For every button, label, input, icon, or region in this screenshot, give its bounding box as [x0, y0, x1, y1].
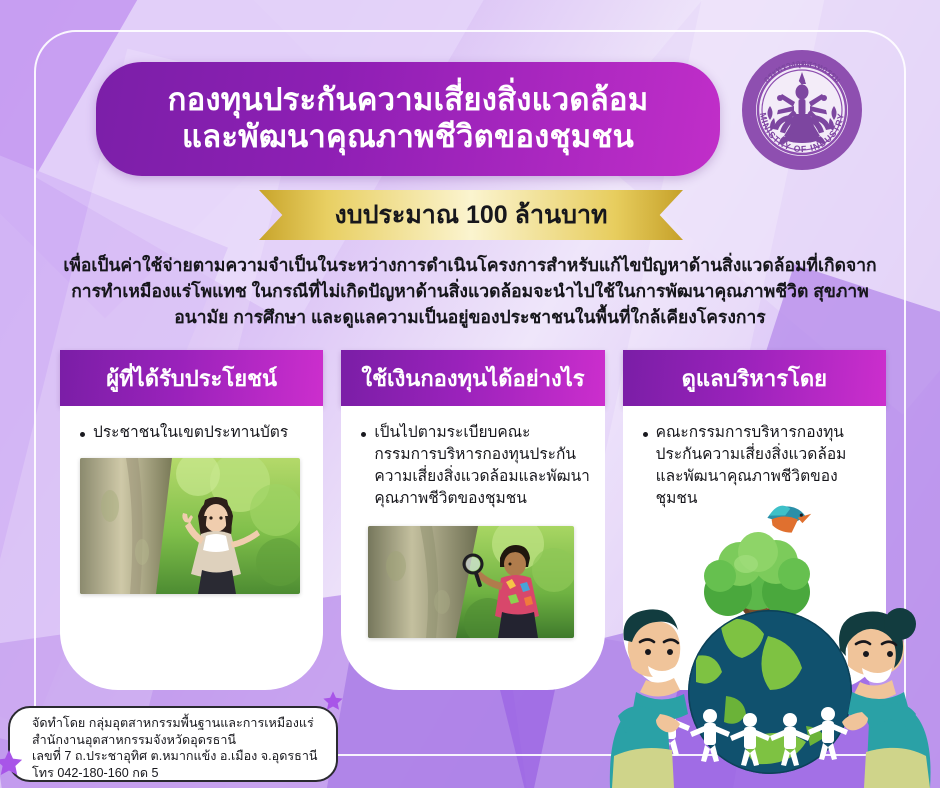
person-left-illustration: [610, 609, 688, 788]
card-body: ประชาชนในเขตประทานบัตร: [60, 406, 323, 690]
list-item: ประชาชนในเขตประทานบัตร: [70, 422, 309, 444]
footer-line-2: สำนักงานอุตสาหกรรมจังหวัดอุดรธานี: [32, 732, 326, 749]
bullet-icon: [361, 432, 366, 437]
card-fund-usage: ใช้เงินกองทุนได้อย่างไร เป็นไปตามระเบียบ…: [341, 350, 604, 690]
card-bullet-text: ประชาชนในเขตประทานบัตร: [93, 422, 288, 444]
star-decoration-icon: [0, 748, 24, 778]
person-right-illustration: [839, 608, 930, 788]
card-heading: ใช้เงินกองทุนได้อย่างไร: [341, 350, 604, 406]
boy-with-magnifier-at-tree-photo: [368, 526, 574, 638]
people-holding-earth-illustration: [600, 500, 940, 788]
budget-ribbon: งบประมาณ 100 ล้านบาท: [259, 190, 683, 240]
footer-line-1: จัดทำโดย กลุ่มอุตสาหกรรมพื้นฐานและการเหม…: [32, 715, 326, 732]
infographic-poster: กองทุนประกันความเสี่ยงสิ่งแวดล้อม และพัฒ…: [0, 0, 940, 788]
card-heading-label: ผู้ที่ได้รับประโยชน์: [106, 361, 277, 396]
card-beneficiaries: ผู้ที่ได้รับประโยชน์ ประชาชนในเขตประทานบ…: [60, 350, 323, 690]
card-bullet-text: เป็นไปตามระเบียบคณะกรรมการบริหารกองทุนปร…: [374, 422, 590, 510]
title-line-2: และพัฒนาคุณภาพชีวิตของชุมชน: [182, 119, 634, 156]
card-heading: ดูแลบริหารโดย: [623, 350, 886, 406]
bullet-icon: [80, 432, 85, 437]
card-body: เป็นไปตามระเบียบคณะกรรมการบริหารกองทุนปร…: [341, 406, 604, 690]
list-item: คณะกรรมการบริหารกองทุนประกันความเสี่ยงสิ…: [633, 422, 872, 510]
footer-line-4: โทร 042-180-160 กด 5: [32, 765, 326, 782]
footer-contact-box: จัดทำโดย กลุ่มอุตสาหกรรมพื้นฐานและการเหม…: [8, 706, 338, 782]
intro-text: เพื่อเป็นค่าใช้จ่ายตามความจำเป็นในระหว่า…: [60, 253, 880, 331]
list-item: เป็นไปตามระเบียบคณะกรรมการบริหารกองทุนปร…: [351, 422, 590, 510]
bullet-icon: [643, 432, 648, 437]
card-heading-label: ใช้เงินกองทุนได้อย่างไร: [361, 361, 584, 396]
footer-line-3: เลขที่ 7 ถ.ประชาอุทิศ ต.หมากแข้ง อ.เมือง…: [32, 748, 326, 765]
card-bullet-text: คณะกรรมการบริหารกองทุนประกันความเสี่ยงสิ…: [656, 422, 872, 510]
girl-beside-tree-photo: [80, 458, 300, 594]
budget-ribbon-label: งบประมาณ 100 ล้านบาท: [335, 195, 608, 235]
star-decoration-icon: [322, 690, 344, 712]
intro-paragraph: เพื่อเป็นค่าใช้จ่ายตามความจำเป็นในระหว่า…: [60, 253, 880, 331]
title-line-1: กองทุนประกันความเสี่ยงสิ่งแวดล้อม: [168, 82, 649, 119]
bird-icon: [766, 502, 813, 536]
card-heading: ผู้ที่ได้รับประโยชน์: [60, 350, 323, 406]
ministry-of-industry-logo-icon: กระทรวงอุตสาหกรรม MINISTRY OF INDUSTRY: [740, 48, 864, 172]
poster-title: กองทุนประกันความเสี่ยงสิ่งแวดล้อม และพัฒ…: [96, 62, 720, 176]
card-heading-label: ดูแลบริหารโดย: [682, 361, 827, 396]
